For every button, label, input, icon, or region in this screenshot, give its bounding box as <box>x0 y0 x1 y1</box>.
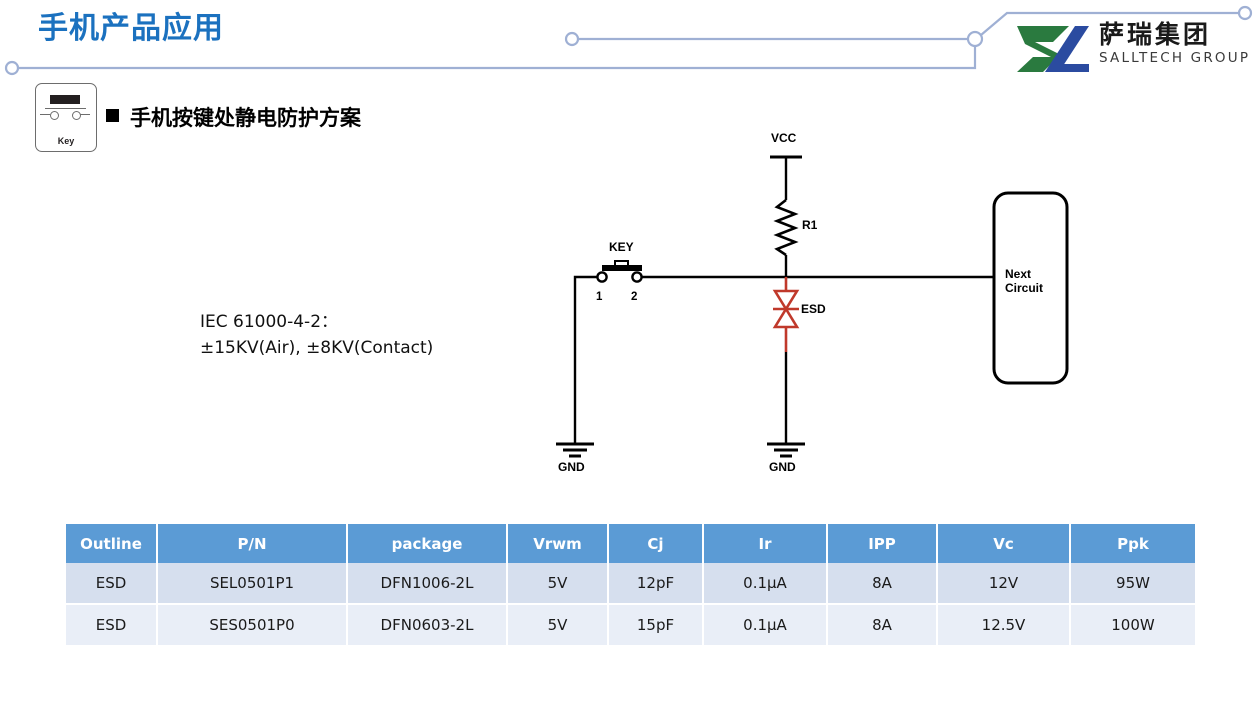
r1-resistor-symbol <box>777 200 795 255</box>
key-actuator-bar <box>602 265 642 271</box>
spec-table: Outline P/N package Vrwm Cj Ir IPP Vc Pp… <box>66 524 1195 647</box>
cell-pn: SEL0501P1 <box>157 563 347 604</box>
cell-ppk: 100W <box>1070 604 1195 646</box>
cell-ppk: 95W <box>1070 563 1195 604</box>
vcc-label: VCC <box>771 131 797 145</box>
cell-outline: ESD <box>66 604 157 646</box>
cell-cj: 15pF <box>608 604 703 646</box>
cell-ir: 0.1µA <box>703 563 827 604</box>
cell-vc: 12.5V <box>937 604 1070 646</box>
cell-ipp: 8A <box>827 604 937 646</box>
table-col-package: package <box>347 524 507 563</box>
cell-package: DFN1006-2L <box>347 563 507 604</box>
table-row: ESD SES0501P0 DFN0603-2L 5V 15pF 0.1µA 8… <box>66 604 1195 646</box>
table-col-pn: P/N <box>157 524 347 563</box>
gnd-right-label: GND <box>769 460 796 474</box>
table-col-outline: Outline <box>66 524 157 563</box>
r1-label: R1 <box>802 218 818 232</box>
cell-vrwm: 5V <box>507 563 608 604</box>
table-col-cj: Cj <box>608 524 703 563</box>
circuit-diagram: VCC R1 KEY 1 2 GND ESD GND Next Circuit <box>0 0 1257 500</box>
table-col-vrwm: Vrwm <box>507 524 608 563</box>
next-circuit-line1: Next <box>1005 267 1031 281</box>
cell-outline: ESD <box>66 563 157 604</box>
table-col-ir: Ir <box>703 524 827 563</box>
esd-tvs-symbol <box>773 291 799 327</box>
cell-ipp: 8A <box>827 563 937 604</box>
key-terminal-2 <box>632 272 641 281</box>
table-row: ESD SEL0501P1 DFN1006-2L 5V 12pF 0.1µA 8… <box>66 563 1195 604</box>
gnd-left-symbol <box>556 444 594 456</box>
key-pin2-label: 2 <box>631 291 637 303</box>
cell-cj: 12pF <box>608 563 703 604</box>
next-circuit-line2: Circuit <box>1005 281 1043 295</box>
cell-vrwm: 5V <box>507 604 608 646</box>
table-col-ppk: Ppk <box>1070 524 1195 563</box>
key-gnd-wire <box>575 277 597 444</box>
cell-package: DFN0603-2L <box>347 604 507 646</box>
table-col-ipp: IPP <box>827 524 937 563</box>
esd-label: ESD <box>801 302 826 316</box>
cell-vc: 12V <box>937 563 1070 604</box>
gnd-left-label: GND <box>558 460 585 474</box>
key-pin1-label: 1 <box>596 291 603 303</box>
gnd-right-symbol <box>767 444 805 456</box>
table-col-vc: Vc <box>937 524 1070 563</box>
table-header-row: Outline P/N package Vrwm Cj Ir IPP Vc Pp… <box>66 524 1195 563</box>
key-terminal-1 <box>597 272 606 281</box>
cell-ir: 0.1µA <box>703 604 827 646</box>
cell-pn: SES0501P0 <box>157 604 347 646</box>
key-label: KEY <box>609 240 634 254</box>
